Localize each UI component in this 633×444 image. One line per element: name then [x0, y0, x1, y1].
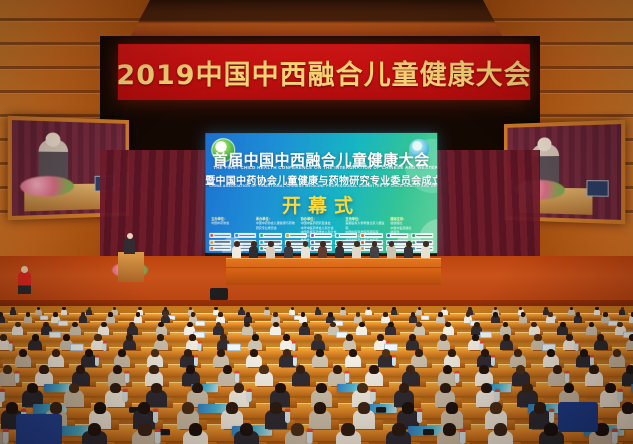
audience-member-head	[27, 383, 38, 393]
audience-member-head	[0, 312, 3, 316]
mobile-phone	[376, 407, 386, 413]
audience-member-head	[234, 383, 245, 393]
audience-member-body	[391, 309, 397, 314]
water-bottle	[15, 371, 19, 383]
audience-member-head	[597, 334, 604, 341]
audience-member-body	[264, 309, 270, 314]
water-bottle	[153, 408, 158, 422]
stage-curtain-left	[100, 150, 205, 260]
audience-member-head	[182, 402, 194, 414]
audience-member-body	[289, 309, 295, 314]
water-bottle	[123, 389, 128, 402]
sponsor-mark-icon	[336, 234, 339, 237]
audience-member-head	[626, 365, 633, 374]
banner-text: 2019中国中西融合儿童健康大会	[116, 53, 531, 92]
audience-member-head	[479, 365, 489, 374]
audience-member-body	[61, 309, 67, 314]
audience-member-body	[568, 309, 574, 314]
audience-seating	[0, 306, 633, 444]
audience-member-head	[388, 322, 394, 328]
audience-member-head	[126, 334, 133, 341]
sponsor-mark-icon	[210, 240, 213, 243]
mobile-phone	[423, 429, 434, 435]
stage-monitor-speaker	[210, 288, 228, 300]
organizer-column-body: 中国中药协会儿童健康与药物研究专业委员会	[256, 221, 297, 229]
sponsor-mark-icon	[235, 234, 238, 237]
audience-member-head	[250, 349, 258, 357]
sponsor-mark-icon	[311, 234, 314, 237]
sponsor-logo-chip	[260, 233, 282, 238]
audience-member-head	[522, 383, 533, 393]
audience-member-head	[415, 349, 423, 357]
audience-member-head	[226, 402, 238, 414]
conference-photo: 2019中国中西融合儿童健康大会 首届中国中西融合儿童健康大会 THE FIRS…	[0, 0, 633, 444]
audience-member-head	[440, 383, 451, 393]
audience-member-head	[466, 312, 471, 316]
audience-member-head	[560, 322, 566, 328]
audience-member-head	[603, 312, 608, 316]
audience-member-head	[392, 423, 405, 436]
audience-member-head	[613, 349, 621, 357]
audience-member-head	[138, 402, 150, 414]
sponsor-name-bar	[391, 235, 407, 237]
audience-member-head	[283, 349, 291, 357]
audience-member-head	[52, 349, 60, 357]
audience-member-head	[136, 312, 141, 316]
sponsor-mark-icon	[210, 234, 213, 237]
audience-member-head	[580, 349, 588, 357]
panelist-head	[268, 241, 274, 247]
water-bottle	[612, 429, 618, 444]
audience-member-head	[240, 423, 253, 436]
audience-member-head	[302, 322, 308, 328]
audience-member-head	[553, 365, 563, 374]
audience-member-head	[157, 334, 164, 341]
audience-member-head	[548, 312, 553, 316]
screen-confidence-monitor	[586, 180, 608, 197]
audience-member-head	[521, 312, 526, 316]
water-bottle	[565, 371, 569, 383]
sponsor-mark-icon	[261, 240, 264, 243]
audience-member-head	[69, 383, 80, 393]
audience-member-head	[273, 322, 279, 328]
audience-member-head	[446, 402, 458, 414]
audience-member-head	[402, 402, 414, 414]
water-bottle	[417, 408, 422, 422]
audience-member-head	[589, 365, 599, 374]
sponsor-logo-chip	[360, 233, 382, 238]
audience-member-head	[275, 383, 286, 393]
panelist-head	[423, 241, 429, 247]
audience-member-head	[151, 383, 162, 393]
audience-member-head	[490, 402, 502, 414]
audience-member-body	[416, 309, 422, 314]
audience-member-head	[377, 334, 384, 341]
audience-member-head	[316, 349, 324, 357]
audience-member-head	[438, 312, 443, 316]
seat-name-card	[480, 331, 492, 337]
audience-member-head	[440, 334, 447, 341]
audience-member-body	[238, 309, 244, 314]
audience-member-head	[3, 365, 13, 374]
audience-member-body	[619, 309, 625, 314]
sponsor-name-bar	[365, 235, 381, 237]
water-bottle	[392, 355, 396, 366]
main-led-screen: 首届中国中西融合儿童健康大会 THE FIRST CHILD HEALTH CO…	[205, 133, 437, 253]
sponsor-name-bar	[340, 235, 356, 237]
sponsor-mark-icon	[286, 234, 289, 237]
audience-member-body	[365, 309, 371, 314]
audience-member-head	[494, 423, 507, 436]
seat-name-card	[40, 315, 48, 319]
audience-member-head	[246, 312, 251, 316]
panelist-head	[303, 241, 309, 247]
audience-member-head	[534, 334, 541, 341]
sponsor-mark-icon	[361, 234, 364, 237]
audience-member-head	[15, 322, 21, 328]
water-bottle	[618, 389, 623, 402]
seat-name-card	[58, 321, 68, 326]
water-bottle	[9, 341, 12, 351]
sponsor-logo-chip	[310, 233, 332, 238]
sponsor-mark-icon	[387, 234, 390, 237]
audience-member-head	[382, 349, 390, 357]
audience-member-head	[481, 383, 492, 393]
panelist-head	[406, 241, 412, 247]
staff-member-body	[18, 272, 31, 294]
sponsor-mark-icon	[210, 247, 213, 250]
audience-member-head	[503, 334, 510, 341]
water-bottle	[307, 429, 313, 444]
water-bottle	[460, 429, 466, 444]
water-bottle	[292, 341, 295, 351]
sponsor-name-bar	[214, 241, 230, 243]
sponsor-name-bar	[290, 235, 306, 237]
panelist-head	[320, 241, 326, 247]
stage-curtain-right	[437, 150, 540, 260]
audience-member-head	[217, 349, 225, 357]
audience-member-head	[88, 423, 101, 436]
panelist-head	[234, 241, 240, 247]
panelist-head	[286, 241, 292, 247]
audience-member-head	[218, 312, 223, 316]
audience-member-head	[220, 334, 227, 341]
audience-member-body	[10, 309, 16, 314]
audience-member-head	[151, 349, 159, 357]
audience-member-head	[252, 334, 259, 341]
audience-member-head	[50, 402, 62, 414]
audience-member-head	[399, 383, 410, 393]
podium-speaker-head	[127, 233, 133, 239]
audience-member-body	[86, 309, 92, 314]
water-bottle	[0, 389, 4, 402]
water-bottle	[371, 389, 376, 402]
water-bottle	[345, 371, 349, 383]
water-bottle	[285, 408, 290, 422]
podium-speaker-body	[124, 238, 135, 254]
panelist-head	[372, 241, 378, 247]
audience-member-head	[94, 334, 101, 341]
audience-bag	[16, 414, 62, 444]
panelist-head	[354, 241, 360, 247]
audience-member-head	[314, 402, 326, 414]
audience-member-head	[341, 423, 354, 436]
audience-member-head	[273, 312, 278, 316]
audience-member-head	[101, 322, 107, 328]
sponsor-logo-chip	[285, 233, 307, 238]
sponsor-name-bar	[214, 235, 230, 237]
audience-member-head	[223, 365, 233, 374]
water-bottle	[293, 355, 297, 366]
audience-member-head	[369, 365, 379, 374]
audience-member-head	[72, 322, 78, 328]
audience-member-head	[346, 334, 353, 341]
water-bottle	[455, 371, 459, 383]
audience-member-head	[149, 365, 159, 374]
audience-member-head	[186, 365, 196, 374]
audience-member-head	[291, 423, 304, 436]
audience-member-body	[35, 309, 41, 314]
panelist-head	[251, 241, 257, 247]
audience-member-head	[605, 383, 616, 393]
water-bottle	[549, 408, 554, 422]
water-bottle	[194, 355, 198, 366]
water-bottle	[103, 341, 106, 351]
audience-member-body	[315, 309, 321, 314]
panel-table	[226, 258, 441, 285]
audience-member-head	[192, 383, 203, 393]
audience-member-head	[576, 312, 581, 316]
wall-moulding	[483, 18, 633, 21]
audience-member-head	[356, 312, 361, 316]
audience-member-head	[76, 365, 86, 374]
sponsor-mark-icon	[261, 234, 264, 237]
audience-member-head	[85, 349, 93, 357]
audience-member-head	[481, 349, 489, 357]
audience-member-head	[629, 334, 633, 341]
water-bottle	[495, 389, 500, 402]
water-bottle	[575, 341, 578, 351]
audience-member-head	[118, 349, 126, 357]
sponsor-logo-chip	[234, 233, 256, 238]
screen-speaker-head	[46, 132, 61, 146]
seat-name-card	[195, 321, 205, 326]
audience-member-head	[564, 383, 575, 393]
staff-member-head	[21, 266, 28, 273]
screen-headline-opening-ceremony: 开幕式	[205, 191, 437, 218]
screen-title-en: THE FIRST CHILD HEALTH CONFERENCE ON THE…	[213, 165, 429, 170]
panelist-head	[389, 241, 395, 247]
audience-member-head	[283, 334, 290, 341]
mobile-phone	[159, 429, 170, 435]
speaker-podium	[118, 252, 144, 282]
audience-member-head	[514, 349, 522, 357]
audience-member-head	[63, 334, 70, 341]
screen-subtitle-en: CHINA ASSOCIATION OF TRADITIONAL CHINESE…	[209, 184, 433, 188]
seat-name-card	[421, 315, 429, 319]
audience-member-head	[189, 423, 202, 436]
water-bottle	[235, 371, 239, 383]
water-bottle	[3, 429, 9, 444]
audience-member-head	[184, 349, 192, 357]
audience-member-head	[187, 322, 193, 328]
sponsor-logo-chip	[411, 233, 433, 238]
audience-member-head	[493, 312, 498, 316]
audience-member-head	[301, 312, 306, 316]
wall-moulding	[0, 18, 150, 21]
audience-member-head	[39, 365, 49, 374]
audience-member-head	[474, 322, 480, 328]
water-bottle	[95, 355, 99, 366]
sponsor-name-bar	[239, 235, 255, 237]
audience-member-head	[81, 312, 86, 316]
sponsor-mark-icon	[412, 234, 415, 237]
audience-member-head	[163, 312, 168, 316]
audience-member-head	[138, 423, 151, 436]
audience-member-head	[108, 312, 113, 316]
audience-member-head	[189, 334, 196, 341]
audience-member-head	[383, 312, 388, 316]
audience-member-head	[316, 383, 327, 393]
audience-member-body	[594, 309, 600, 314]
audience-member-head	[547, 349, 555, 357]
seat-name-card	[49, 331, 61, 337]
audience-member-head	[443, 365, 453, 374]
audience-member-head	[19, 349, 27, 357]
audience-member-head	[406, 365, 416, 374]
panelist-head	[337, 241, 343, 247]
audience-member-head	[328, 312, 333, 316]
seat-name-card	[70, 344, 84, 351]
audience-member-head	[32, 334, 39, 341]
audience-member-head	[566, 334, 573, 341]
audience-member-head	[443, 423, 456, 436]
sponsor-name-bar	[416, 235, 432, 237]
audience-member-head	[472, 334, 479, 341]
audience-member-head	[333, 365, 343, 374]
water-bottle	[247, 389, 252, 402]
water-bottle	[155, 429, 161, 444]
audience-member-head	[270, 402, 282, 414]
audience-member-head	[411, 312, 416, 316]
sponsor-logo-chip	[386, 233, 408, 238]
audience-member-head	[0, 334, 7, 341]
organizer-column-body: 中国中药协会	[211, 221, 252, 225]
audience-member-head	[448, 349, 456, 357]
sponsor-logo-chip	[335, 233, 357, 238]
water-bottle	[491, 355, 495, 366]
audience-member-head	[94, 402, 106, 414]
audience-member-body	[340, 309, 346, 314]
main-banner: 2019中国中西融合儿童健康大会	[118, 44, 530, 100]
audience-member-head	[516, 365, 526, 374]
audience-member-head	[534, 402, 546, 414]
water-bottle	[198, 341, 201, 351]
audience-member-head	[6, 402, 18, 414]
audience-member-head	[26, 312, 31, 316]
sponsor-logo-chip	[209, 233, 231, 238]
audience-member-head	[259, 365, 269, 374]
audience-member-head	[357, 383, 368, 393]
audience-member-head	[110, 383, 121, 393]
sponsor-name-bar	[315, 235, 331, 237]
sponsor-name-bar	[265, 235, 281, 237]
audience-member-head	[544, 423, 557, 436]
audience-member-head	[358, 402, 370, 414]
audience-member-head	[314, 334, 321, 341]
audience-member-head	[53, 312, 58, 316]
audience-member-head	[409, 334, 416, 341]
audience-member-head	[359, 322, 365, 328]
audience-member-head	[622, 402, 633, 414]
sponsor-logo-row	[209, 233, 433, 238]
audience-member-head	[113, 365, 123, 374]
audience-member-head	[349, 349, 357, 357]
water-bottle	[125, 371, 129, 383]
audience-bag	[558, 402, 598, 432]
audience-member-head	[296, 365, 306, 374]
audience-member-head	[191, 312, 196, 316]
seat-name-card	[227, 344, 241, 351]
